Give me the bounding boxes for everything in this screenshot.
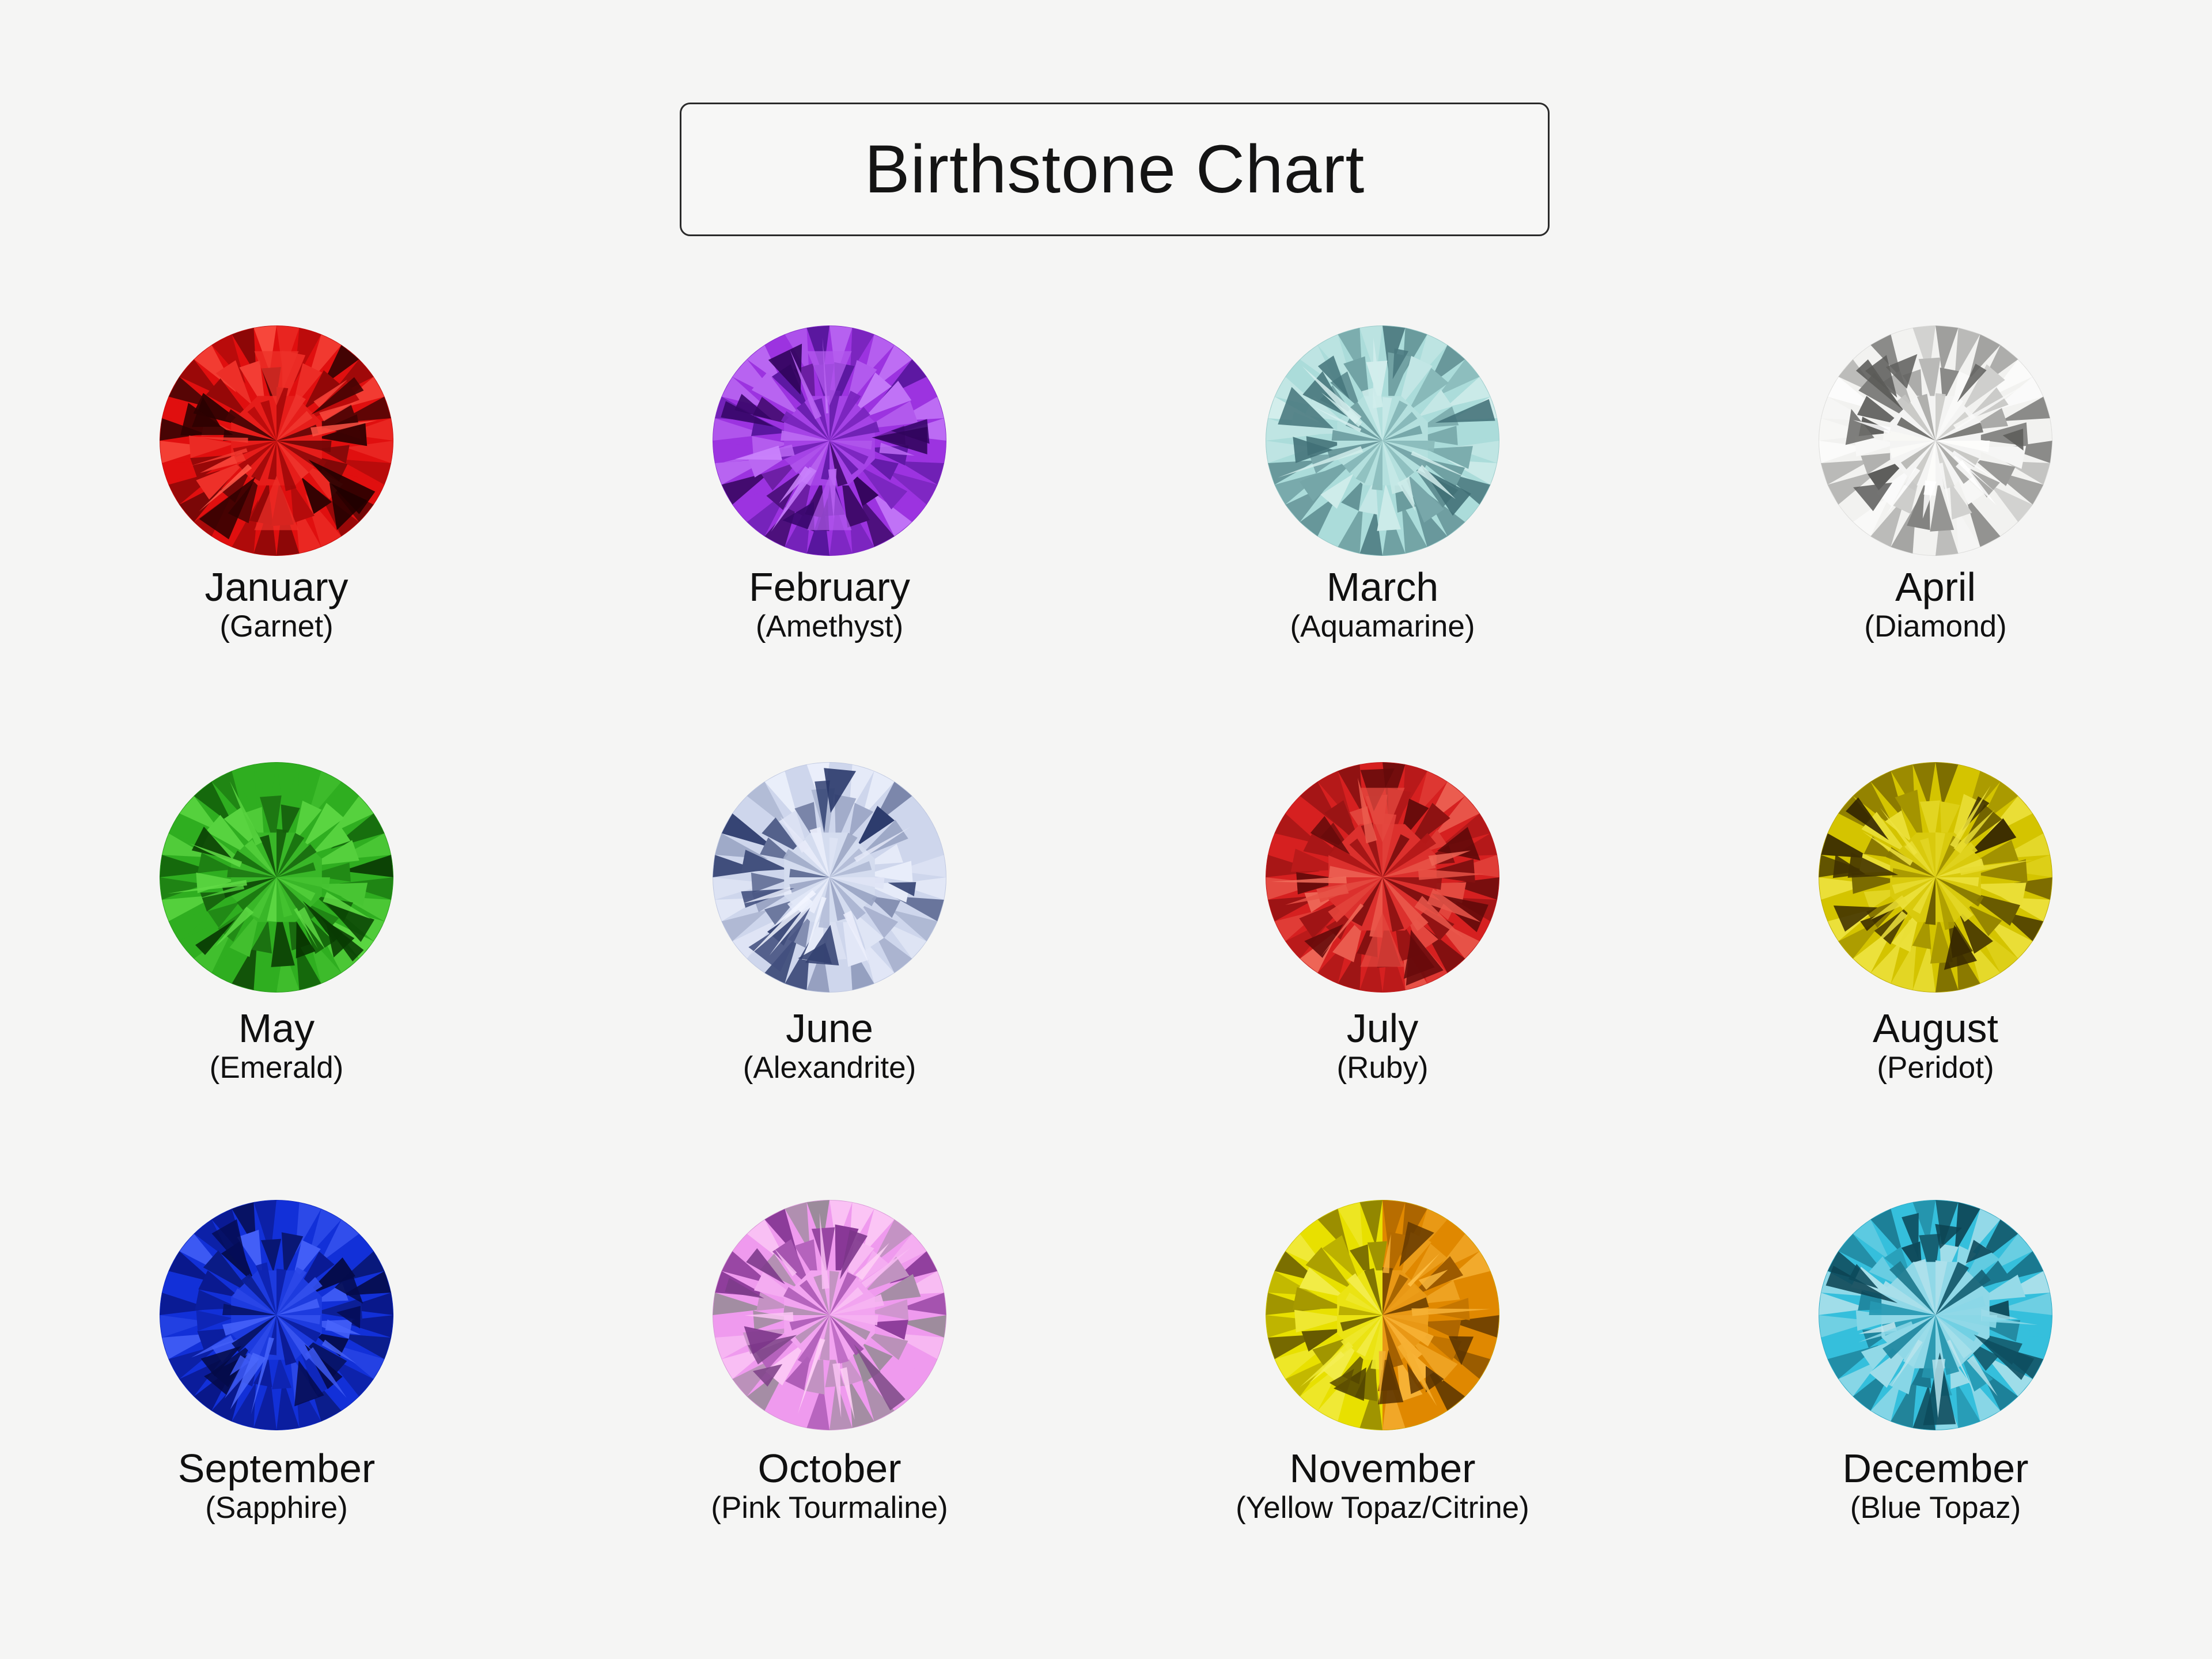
stone-label: (Ruby) — [1336, 1052, 1428, 1084]
birthstone-cell-january[interactable]: January(Garnet) — [0, 300, 553, 737]
month-label: June — [786, 1008, 873, 1049]
gem-icon-emerald — [158, 759, 395, 995]
birthstone-grid: January(Garnet)February(Amethyst)March(A… — [0, 300, 2212, 1613]
birthstone-cell-august[interactable]: August(Peridot) — [1659, 737, 2212, 1175]
birthstone-cell-february[interactable]: February(Amethyst) — [553, 300, 1106, 737]
gem-icon-amethyst — [711, 323, 948, 559]
month-label: July — [1347, 1008, 1418, 1049]
stone-label: (Yellow Topaz/Citrine) — [1236, 1493, 1529, 1524]
birthstone-cell-july[interactable]: July(Ruby) — [1106, 737, 1659, 1175]
birthstone-chart-page: Birthstone Chart January(Garnet)February… — [0, 0, 2212, 1659]
month-label: November — [1290, 1448, 1476, 1489]
stone-label: (Peridot) — [1877, 1052, 1994, 1084]
gem-icon-peridot — [1817, 759, 2054, 995]
gem-icon-ruby — [1264, 759, 1501, 995]
month-label: January — [204, 567, 348, 608]
stone-label: (Blue Topaz) — [1850, 1493, 2021, 1524]
birthstone-cell-march[interactable]: March(Aquamarine) — [1106, 300, 1659, 737]
birthstone-cell-september[interactable]: September(Sapphire) — [0, 1175, 553, 1613]
month-label: February — [749, 567, 910, 608]
month-label: September — [178, 1448, 375, 1489]
month-label: December — [1843, 1448, 2029, 1489]
stone-label: (Alexandrite) — [743, 1052, 916, 1084]
birthstone-cell-november[interactable]: November(Yellow Topaz/Citrine) — [1106, 1175, 1659, 1613]
month-label: October — [758, 1448, 902, 1489]
gem-icon-blue-topaz — [1817, 1197, 2054, 1433]
birthstone-cell-december[interactable]: December(Blue Topaz) — [1659, 1175, 2212, 1613]
gem-icon-alexandrite — [711, 759, 948, 995]
gem-icon-garnet — [158, 323, 395, 559]
birthstone-row: September(Sapphire)October(Pink Tourmali… — [0, 1175, 2212, 1613]
month-label: April — [1895, 567, 1976, 608]
page-title: Birthstone Chart — [865, 135, 1365, 203]
stone-label: (Garnet) — [219, 611, 333, 642]
stone-label: (Amethyst) — [756, 611, 903, 642]
month-label: March — [1327, 567, 1438, 608]
stone-label: (Diamond) — [1864, 611, 2006, 642]
birthstone-cell-may[interactable]: May(Emerald) — [0, 737, 553, 1175]
month-label: May — [238, 1008, 315, 1049]
gem-icon-sapphire — [158, 1197, 395, 1433]
birthstone-cell-april[interactable]: April(Diamond) — [1659, 300, 2212, 737]
gem-icon-yellow-topaz-citrine — [1264, 1197, 1501, 1433]
stone-label: (Sapphire) — [205, 1493, 347, 1524]
stone-label: (Pink Tourmaline) — [711, 1493, 948, 1524]
birthstone-row: May(Emerald)June(Alexandrite)July(Ruby)A… — [0, 737, 2212, 1175]
birthstone-cell-october[interactable]: October(Pink Tourmaline) — [553, 1175, 1106, 1613]
gem-icon-diamond — [1817, 323, 2054, 559]
month-label: August — [1873, 1008, 1998, 1049]
stone-label: (Emerald) — [210, 1052, 344, 1084]
birthstone-row: January(Garnet)February(Amethyst)March(A… — [0, 300, 2212, 737]
gem-icon-pink-tourmaline — [711, 1197, 948, 1433]
gem-icon-aquamarine — [1264, 323, 1501, 559]
page-title-box: Birthstone Chart — [680, 103, 1550, 236]
stone-label: (Aquamarine) — [1290, 611, 1475, 642]
birthstone-cell-june[interactable]: June(Alexandrite) — [553, 737, 1106, 1175]
